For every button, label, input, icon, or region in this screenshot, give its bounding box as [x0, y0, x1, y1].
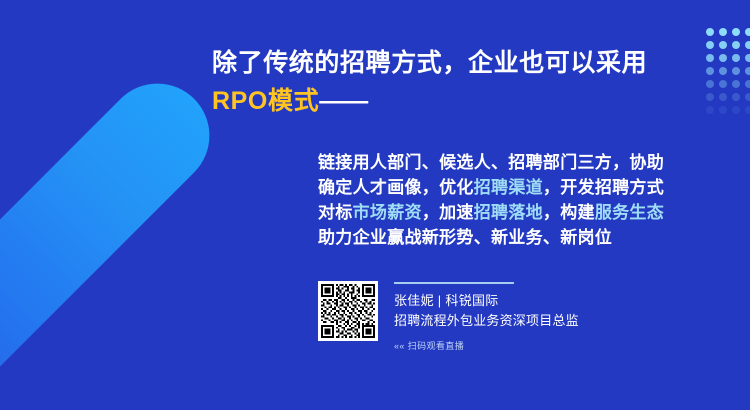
body-text-highlight: 招聘落地 — [474, 203, 543, 222]
dot — [745, 28, 750, 36]
diagonal-accent-shape — [0, 62, 231, 410]
headline-line-1: 除了传统的招聘方式，企业也可以采用 — [212, 44, 692, 82]
qr-code[interactable] — [318, 281, 378, 341]
dot — [706, 28, 714, 36]
dot — [719, 67, 727, 75]
body-text-plain: 对标 — [318, 203, 353, 222]
dot — [719, 80, 727, 88]
dot — [706, 106, 714, 114]
dot — [706, 54, 714, 62]
body-text-plain: ，开发招聘方式 — [543, 178, 664, 197]
body-text-plain: 确定人才画像， — [318, 178, 439, 197]
dot — [719, 28, 727, 36]
dot — [706, 41, 714, 49]
dot — [732, 41, 740, 49]
body-line-1: 链接用人部门、候选人、招聘部门三方，协助 — [318, 150, 718, 175]
dot — [732, 80, 740, 88]
dot — [745, 93, 750, 101]
body-text-plain: 助力企业赢战新形势、新业务、新岗位 — [318, 228, 612, 247]
body-text-plain: ，加速 — [422, 203, 474, 222]
dot — [745, 41, 750, 49]
dot — [706, 80, 714, 88]
body-line-2: 确定人才画像，优化招聘渠道，开发招聘方式 — [318, 175, 718, 200]
dot-grid-decoration — [706, 28, 750, 112]
dot — [719, 106, 727, 114]
body-text-plain: ，构建 — [543, 203, 595, 222]
dot — [745, 67, 750, 75]
dot — [732, 67, 740, 75]
dot — [706, 67, 714, 75]
dot — [732, 106, 740, 114]
dot — [745, 54, 750, 62]
dot — [745, 80, 750, 88]
dot — [732, 93, 740, 101]
dot — [719, 41, 727, 49]
dot — [706, 93, 714, 101]
dot — [719, 93, 727, 101]
promo-banner: 除了传统的招聘方式，企业也可以采用 RPO模式—— 链接用人部门、候选人、招聘部… — [0, 0, 750, 410]
dot — [732, 28, 740, 36]
speaker-title: 招聘流程外包业务资深项目总监 — [394, 311, 579, 331]
headline-accent-rpo: RPO模式 — [212, 87, 319, 115]
qr-code-image — [321, 284, 375, 338]
body-text-highlight: 服务生态 — [595, 203, 664, 222]
headline-line-2: RPO模式—— — [212, 82, 692, 120]
speaker-divider — [394, 282, 514, 284]
body-text-highlight: 招聘渠道 — [474, 178, 543, 197]
body-text-plain: 优化 — [439, 178, 474, 197]
headline-dash: —— — [319, 87, 367, 115]
dot — [732, 54, 740, 62]
body-text-highlight: 市场薪资 — [353, 203, 422, 222]
dot — [719, 54, 727, 62]
body-line-4: 助力企业赢战新形势、新业务、新岗位 — [318, 225, 718, 250]
speaker-name: 张佳妮 | 科锐国际 — [394, 291, 579, 311]
speaker-info: 张佳妮 | 科锐国际 招聘流程外包业务资深项目总监 «« 扫码观看直播 — [394, 281, 579, 352]
headline-block: 除了传统的招聘方式，企业也可以采用 RPO模式—— — [212, 44, 692, 120]
scan-hint-label: «« 扫码观看直播 — [394, 339, 579, 352]
dot — [745, 106, 750, 114]
body-line-3: 对标市场薪资，加速招聘落地，构建服务生态 — [318, 200, 718, 225]
body-text-plain: 链接用人部门、候选人、招聘部门三方，协助 — [318, 153, 664, 172]
speaker-block: 张佳妮 | 科锐国际 招聘流程外包业务资深项目总监 «« 扫码观看直播 — [318, 281, 579, 352]
body-copy-block: 链接用人部门、候选人、招聘部门三方，协助 确定人才画像，优化招聘渠道，开发招聘方… — [318, 150, 718, 250]
